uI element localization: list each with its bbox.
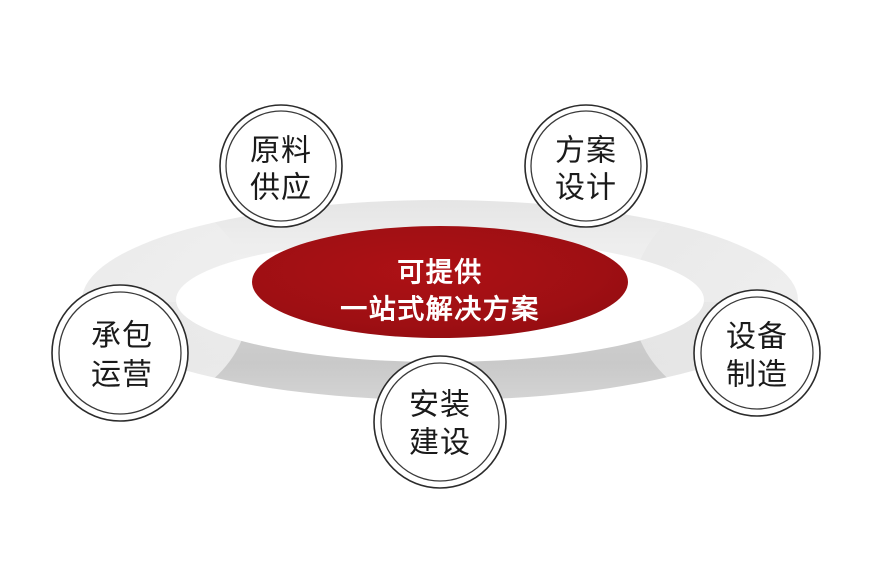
node-label-line1: 安装	[409, 388, 471, 423]
node-label-line1: 设备	[726, 320, 788, 355]
node-equipment-manufacturing[interactable]: 设备 制造	[694, 290, 820, 416]
center-label-line1: 可提供	[397, 258, 483, 289]
center-label-line2: 一站式解决方案	[340, 294, 540, 326]
node-label-line2: 运营	[91, 358, 153, 393]
node-label-line1: 原料	[250, 134, 312, 169]
node-label-line2: 设计	[555, 171, 617, 206]
node-label-line2: 建设	[409, 426, 471, 461]
solution-ring-diagram: 可提供 一站式解决方案 原料 供应 方案 设计 承包 运营 设备	[0, 0, 881, 564]
node-scheme-design[interactable]: 方案 设计	[525, 105, 647, 227]
node-label-line1: 承包	[91, 319, 153, 354]
node-contract-operation[interactable]: 承包 运营	[52, 285, 188, 421]
node-label-line2: 制造	[726, 358, 788, 393]
node-label-line1: 方案	[555, 134, 617, 169]
node-installation-construction[interactable]: 安装 建设	[374, 356, 506, 488]
diagram-canvas: 可提供 一站式解决方案 原料 供应 方案 设计 承包 运营 设备	[0, 0, 881, 564]
node-label-line2: 供应	[250, 171, 312, 206]
center-hub[interactable]: 可提供 一站式解决方案	[252, 226, 628, 338]
node-raw-material-supply[interactable]: 原料 供应	[220, 105, 342, 227]
